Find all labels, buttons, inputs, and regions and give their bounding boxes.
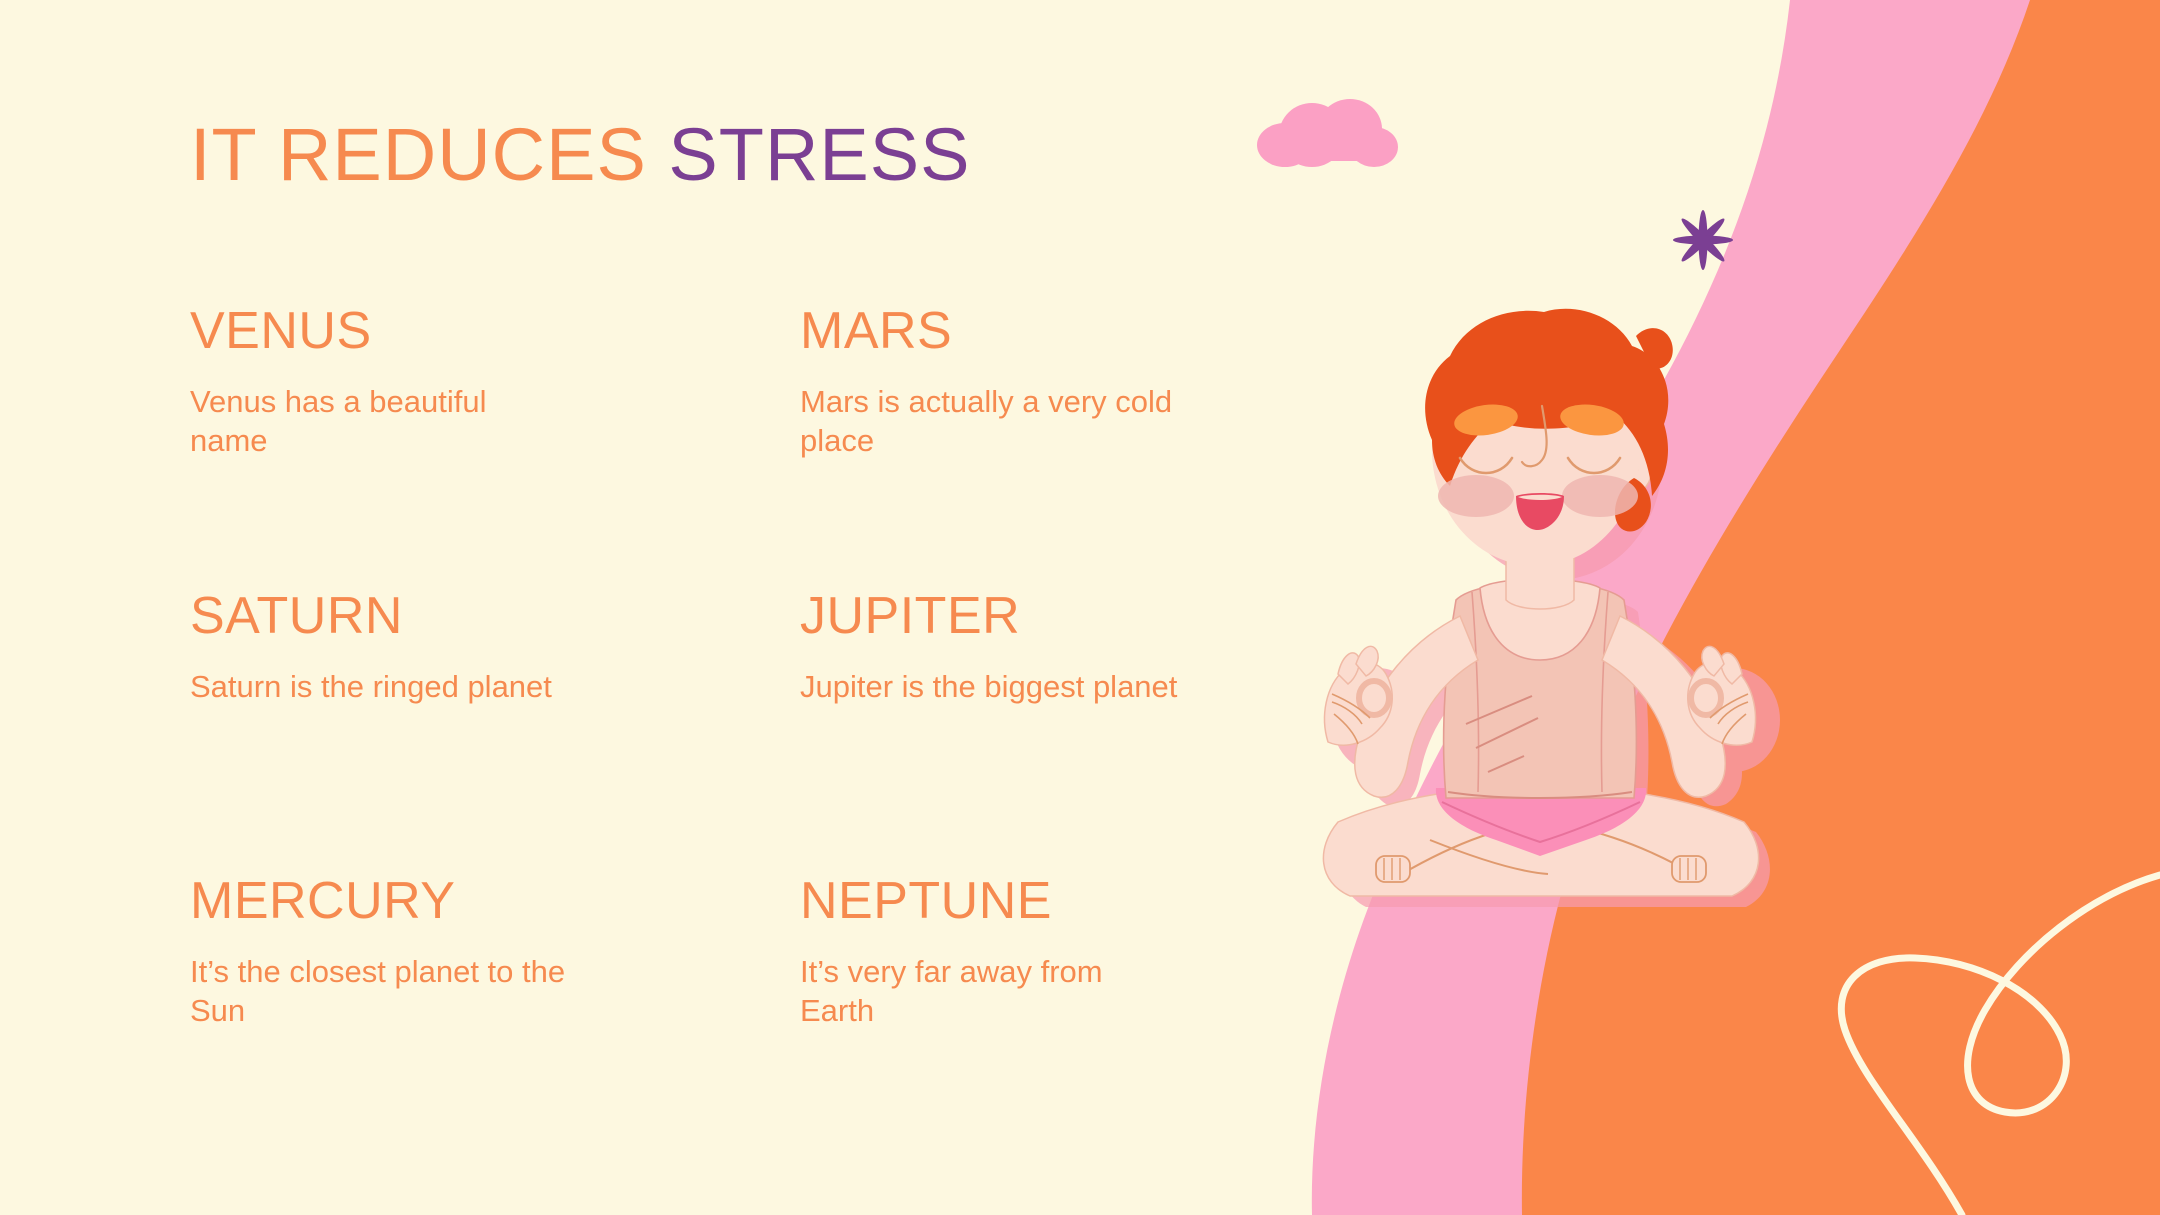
title-part-orange: IT REDUCES [190,113,647,196]
item-body: Venus has a beautiful name [190,383,570,461]
grid-item-venus: VENUS Venus has a beautiful name [190,305,760,590]
item-body: It’s very far away from Earth [800,953,1180,1031]
person-torso [1444,579,1637,798]
person-head [1425,309,1673,566]
item-body: Mars is actually a very cold place [800,383,1180,461]
item-body: It’s the closest planet to the Sun [190,953,570,1031]
title-part-purple: STRESS [668,113,970,196]
slide-root: IT REDUCES STRESS VENUS Venus has a beau… [0,0,2160,1215]
item-title: VENUS [190,305,760,357]
meditating-person-illustration [1280,300,1800,960]
grid-item-mercury: MERCURY It’s the closest planet to the S… [190,875,760,1031]
item-title: MERCURY [190,875,760,927]
cloud-icon [1250,95,1400,175]
sparkle-star-icon [1668,205,1738,275]
grid-item-saturn: SATURN Saturn is the ringed planet [190,590,760,875]
item-title: SATURN [190,590,760,642]
looping-line [1841,875,2160,1215]
planet-grid: VENUS Venus has a beautiful name MARS Ma… [190,305,1370,1031]
page-title: IT REDUCES STRESS [190,118,970,192]
item-body: Saturn is the ringed planet [190,668,570,707]
item-body: Jupiter is the biggest planet [800,668,1180,707]
